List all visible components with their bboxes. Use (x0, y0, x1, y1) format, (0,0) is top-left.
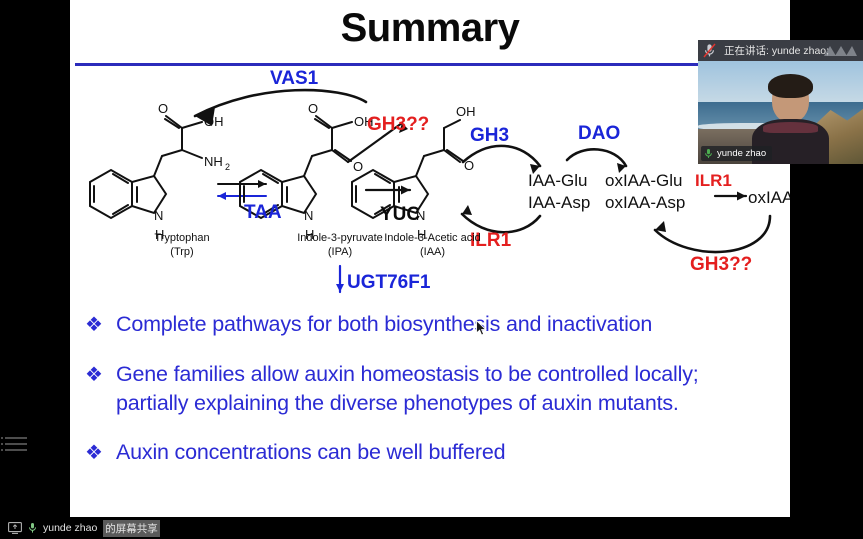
summary-bullet-list: ❖ Complete pathways for both biosynthesi… (70, 310, 790, 488)
compound-abbrev: (IAA) (345, 246, 520, 260)
presentation-slide: Summary (70, 0, 790, 520)
enzyme-label-gh3: GH3 (470, 125, 509, 147)
svg-text:O: O (158, 101, 168, 116)
svg-text:NH: NH (204, 154, 223, 169)
product-oxiaa: oxIAA (748, 187, 790, 209)
svg-text:2: 2 (225, 162, 230, 172)
video-feed: yunde zhao (698, 61, 863, 164)
page-title: Summary (70, 6, 790, 51)
enzyme-label-ilr1-right: ILR1 (695, 171, 732, 191)
left-rail (0, 0, 70, 539)
enzyme-label-ugt76f1: UGT76F1 (347, 272, 430, 294)
screen-share-window: 录制中 Summary (0, 0, 863, 539)
conjugate-column-iaa: IAA-Glu IAA-Asp (528, 170, 590, 215)
enzyme-label-gh3-question-left: GH3?? (367, 114, 429, 136)
conjugate-iaa-glu: IAA-Glu (528, 170, 590, 192)
mic-icon (704, 148, 713, 159)
auxin-pathway-diagram: O OH NH 2 N H O OH O N H OH O N H (70, 66, 790, 316)
participant-nametag: yunde zhao (701, 146, 772, 161)
compound-name: Tryptophan (122, 232, 242, 246)
compound-abbrev: (Trp) (122, 246, 242, 260)
conjugate-column-oxiaa: oxIAA-Glu oxIAA-Asp (605, 170, 685, 215)
sharing-user-name: yunde zhao (43, 522, 97, 534)
svg-text:O: O (464, 158, 474, 173)
speaker-collar (763, 122, 818, 132)
list-item: ❖ Complete pathways for both biosynthesi… (70, 310, 790, 340)
active-speaker-video-panel[interactable]: 正在讲话: yunde zhao; (698, 40, 863, 164)
conjugate-iaa-asp: IAA-Asp (528, 192, 590, 214)
video-panel-header: 正在讲话: yunde zhao; (698, 40, 863, 61)
speaking-status-label: 正在讲话: yunde zhao; (724, 43, 829, 58)
audio-wave-icon (823, 44, 857, 57)
mic-icon (28, 522, 37, 534)
list-item-text: Auxin concentrations can be well buffere… (116, 438, 505, 468)
mic-muted-icon (703, 43, 716, 58)
svg-text:N: N (304, 208, 313, 223)
conjugate-oxiaa-asp: oxIAA-Asp (605, 192, 685, 214)
screen-share-status-bar: yunde zhao 的屏幕共享 (0, 517, 863, 539)
list-icon[interactable] (5, 437, 27, 457)
enzyme-label-vas1: VAS1 (270, 68, 318, 90)
list-item-text: Gene families allow auxin homeostasis to… (116, 360, 776, 418)
screen-share-icon (8, 522, 22, 534)
sharing-status-label: 的屏幕共享 (103, 520, 160, 537)
list-item: ❖ Auxin concentrations can be well buffe… (70, 438, 790, 468)
enzyme-label-dao: DAO (578, 123, 620, 145)
conjugate-oxiaa-glu: oxIAA-Glu (605, 170, 685, 192)
diamond-bullet-icon: ❖ (84, 438, 104, 468)
svg-text:O: O (353, 159, 363, 174)
diamond-bullet-icon: ❖ (84, 360, 104, 418)
speaker-hair (768, 74, 813, 98)
svg-text:N: N (154, 208, 163, 223)
enzyme-label-taa: TAA (244, 202, 282, 224)
mouse-pointer-icon (476, 320, 487, 336)
compound-name: Indole-3-Acetic acid (345, 232, 520, 246)
compound-caption-indole-3-acetic-acid: Indole-3-Acetic acid (IAA) (345, 232, 520, 260)
list-item-text: Complete pathways for both biosynthesis … (116, 310, 652, 340)
enzyme-label-gh3-question-right: GH3?? (690, 254, 752, 276)
diamond-bullet-icon: ❖ (84, 310, 104, 340)
enzyme-label-yuc: YUC (380, 204, 420, 226)
svg-text:OH: OH (456, 104, 476, 119)
svg-text:O: O (308, 101, 318, 116)
svg-text:OH: OH (204, 114, 224, 129)
compound-caption-tryptophan: Tryptophan (Trp) (122, 232, 242, 260)
list-item: ❖ Gene families allow auxin homeostasis … (70, 360, 790, 418)
participant-name: yunde zhao (717, 148, 766, 159)
